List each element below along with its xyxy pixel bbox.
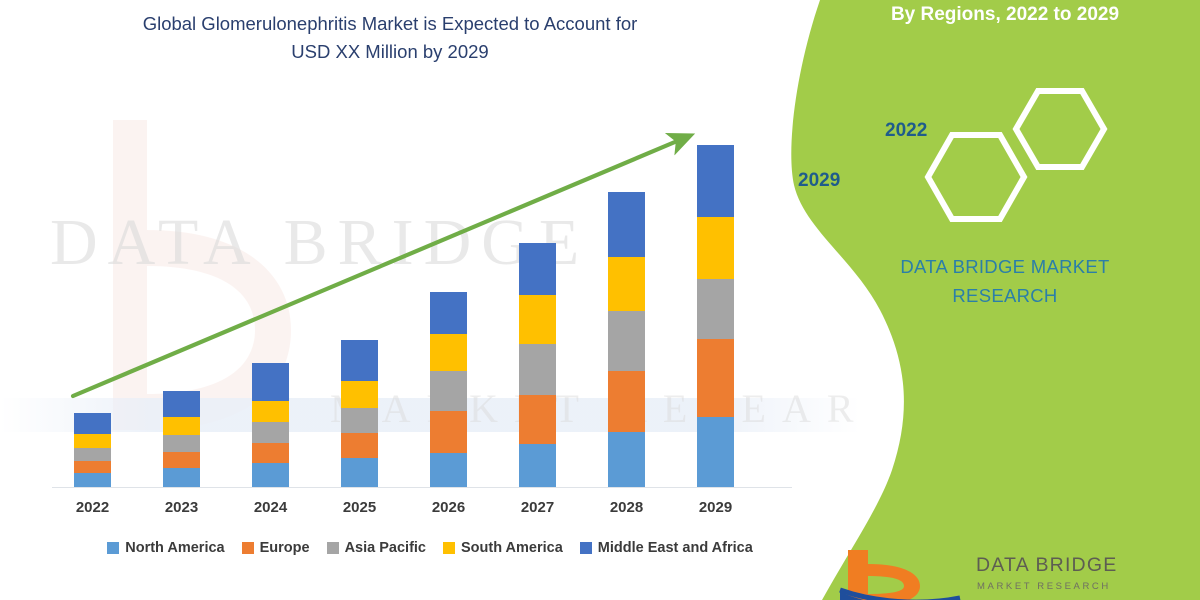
brand-line-2: RESEARCH (850, 281, 1160, 310)
hexagon-badges (910, 85, 1170, 225)
footer-logo-title: DATA BRIDGE (976, 554, 1117, 577)
footer-logo: DATA BRIDGE MARKET RESEARCH (838, 548, 1158, 600)
hexagon-2022-label: 2022 (885, 120, 927, 142)
legend-item-north-america[interactable]: North America (107, 540, 224, 556)
legend-label: Europe (260, 540, 310, 556)
legend-swatch-icon (580, 542, 592, 554)
regions-title: By Regions, 2022 to 2029 (815, 0, 1195, 30)
brand-panel-content: By Regions, 2022 to 2029 2022 2029 DATA … (760, 0, 1200, 600)
brand-panel: By Regions, 2022 to 2029 2022 2029 DATA … (760, 0, 1200, 600)
bridge-logo-icon (838, 548, 968, 600)
legend-label: Middle East and Africa (598, 540, 753, 556)
hexagon-2029-icon (928, 135, 1024, 219)
legend-item-middle-east-and-africa[interactable]: Middle East and Africa (580, 540, 753, 556)
legend-label: Asia Pacific (345, 540, 426, 556)
hexagon-2022-icon (1016, 91, 1104, 167)
brand-name: DATA BRIDGE MARKET RESEARCH (850, 252, 1160, 310)
brand-line-1: DATA BRIDGE MARKET (850, 252, 1160, 281)
legend-swatch-icon (443, 542, 455, 554)
hexagon-2029-label: 2029 (798, 170, 840, 192)
legend-swatch-icon (242, 542, 254, 554)
legend-swatch-icon (327, 542, 339, 554)
chart-panel: DATA BRIDGE MARKET RESEARCH Global Glome… (0, 0, 860, 600)
infographic-root: DATA BRIDGE MARKET RESEARCH Global Glome… (0, 0, 1200, 600)
growth-trend-arrow-icon (0, 0, 860, 600)
footer-logo-subtitle: MARKET RESEARCH (977, 581, 1111, 592)
legend-item-asia-pacific[interactable]: Asia Pacific (327, 540, 426, 556)
legend-item-south-america[interactable]: South America (443, 540, 563, 556)
legend-item-europe[interactable]: Europe (242, 540, 310, 556)
hexagon-icons (910, 85, 1170, 225)
legend-label: South America (461, 540, 563, 556)
chart-legend: North AmericaEuropeAsia PacificSouth Ame… (40, 540, 820, 556)
legend-swatch-icon (107, 542, 119, 554)
legend-label: North America (125, 540, 224, 556)
